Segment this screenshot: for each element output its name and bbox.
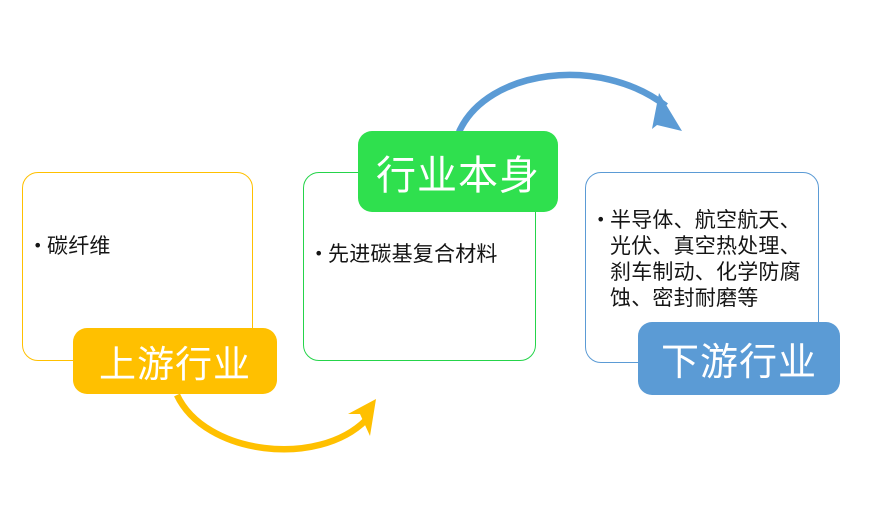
label-downstream-text: 下游行业 [661, 331, 817, 386]
list-item: • 先进碳基复合材料 [314, 241, 534, 267]
diagram-canvas: • 碳纤维 • 先进碳基复合材料 • 半导体、航空航天、 光伏、真空热处理、 刹… [0, 0, 873, 518]
card-upstream-text: 碳纤维 [47, 233, 248, 259]
blue-arrow [459, 75, 682, 132]
card-downstream-body: • 半导体、航空航天、 光伏、真空热处理、 刹车制动、化学防腐 蚀、密封耐磨等 [596, 207, 816, 311]
label-upstream[interactable]: 上游行业 [73, 328, 277, 394]
label-upstream-text: 上游行业 [99, 334, 251, 388]
list-item: • 半导体、航空航天、 光伏、真空热处理、 刹车制动、化学防腐 蚀、密封耐磨等 [596, 207, 816, 311]
bullet-icon: • [314, 241, 328, 267]
card-downstream-text: 半导体、航空航天、 光伏、真空热处理、 刹车制动、化学防腐 蚀、密封耐磨等 [610, 207, 816, 311]
card-upstream-body: • 碳纤维 [33, 233, 248, 259]
bullet-icon: • [33, 233, 47, 259]
card-industry-body: • 先进碳基复合材料 [314, 241, 534, 267]
bullet-icon: • [596, 207, 610, 233]
label-downstream[interactable]: 下游行业 [638, 322, 840, 395]
card-industry-text: 先进碳基复合材料 [328, 241, 534, 267]
label-industry[interactable]: 行业本身 [358, 131, 558, 212]
yellow-arrow [177, 395, 376, 449]
label-industry-text: 行业本身 [376, 143, 540, 201]
list-item: • 碳纤维 [33, 233, 248, 259]
